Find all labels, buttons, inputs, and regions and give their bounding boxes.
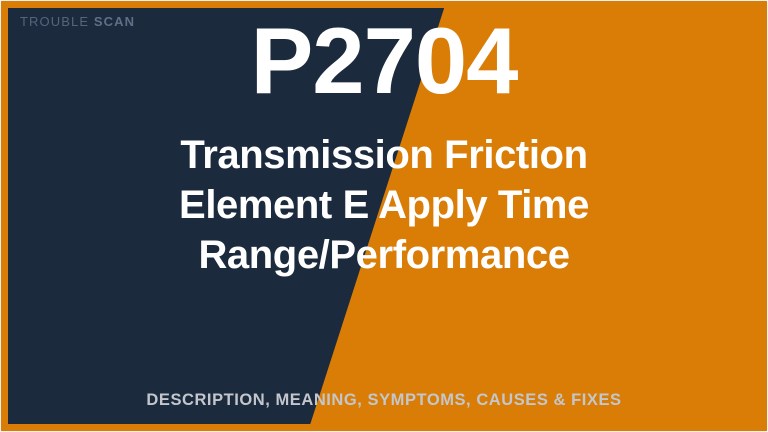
- card-inner-canvas: TROUBLE SCAN P2704 Transmission Friction…: [8, 8, 760, 424]
- card-subtitle: DESCRIPTION, MEANING, SYMPTOMS, CAUSES &…: [8, 391, 760, 410]
- code-title-line-3: Range/Performance: [56, 230, 712, 280]
- card-content: P2704 Transmission Friction Element E Ap…: [8, 8, 760, 424]
- trouble-code-card: TROUBLE SCAN P2704 Transmission Friction…: [0, 0, 768, 432]
- diagnostic-trouble-code: P2704: [8, 14, 760, 108]
- code-title-line-1: Transmission Friction: [56, 130, 712, 180]
- code-title-line-2: Element E Apply Time: [56, 180, 712, 230]
- code-title: Transmission Friction Element E Apply Ti…: [8, 130, 760, 280]
